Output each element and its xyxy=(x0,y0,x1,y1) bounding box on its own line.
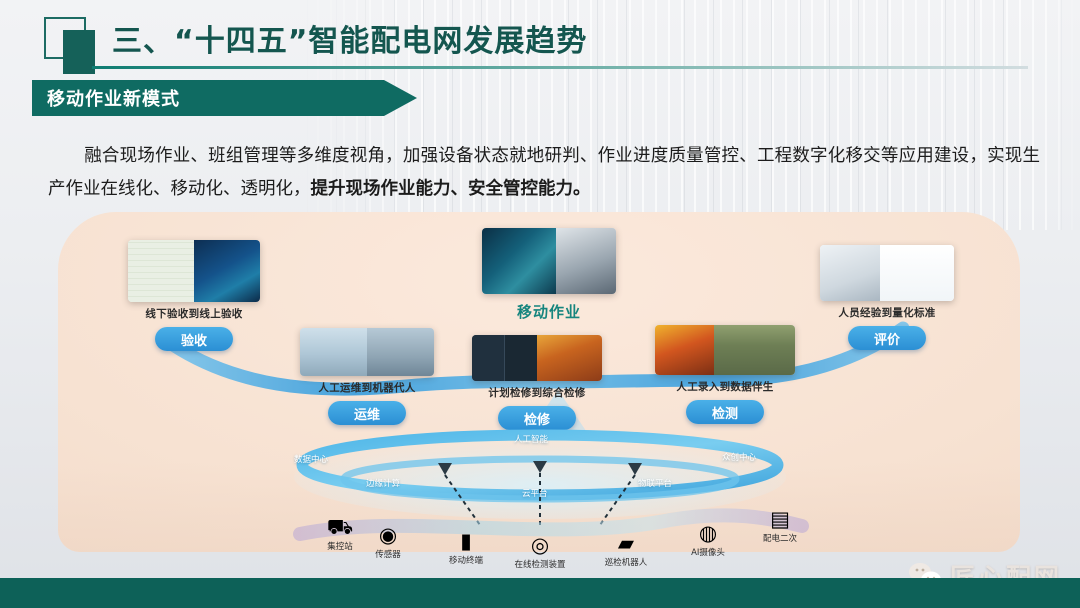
thumb-art-aerial xyxy=(194,240,260,302)
node-detection[interactable]: 人工录入到数据伴生 检测 xyxy=(655,325,795,424)
online-monitor-icon: ◎ xyxy=(500,526,580,556)
node-acceptance-caption: 线下验收到线上验收 xyxy=(128,306,260,321)
section-banner: 移动作业新模式 xyxy=(32,80,417,116)
section-banner-label: 移动作业新模式 xyxy=(32,85,180,111)
thumb-art-schematic xyxy=(128,240,194,302)
node-detection-thumbnail xyxy=(655,325,795,375)
device-secondary-equipment[interactable]: ▤ 配电二次 xyxy=(740,500,820,544)
paragraph-emphasis: 提升现场作业能力、安全管控能力。 xyxy=(311,179,591,199)
thumb-art-drone xyxy=(367,328,434,376)
device-inspection-robot[interactable]: ▰ 巡检机器人 xyxy=(586,524,666,568)
device-ai-camera-label: AI摄像头 xyxy=(668,546,748,558)
node-mobile-operation-caption: 移动作业 xyxy=(482,301,616,322)
inspection-robot-icon: ▰ xyxy=(586,524,666,554)
sensor-icon: ◉ xyxy=(348,516,428,546)
device-mobile-terminal[interactable]: ▮ 移动终端 xyxy=(426,522,506,566)
device-online-monitor-label: 在线检测装置 xyxy=(500,558,580,570)
device-inspection-robot-label: 巡检机器人 xyxy=(586,556,666,568)
node-evaluation-pill[interactable]: 评价 xyxy=(848,326,926,350)
body-paragraph: 融合现场作业、班组管理等多维度视角，加强设备状态就地研判、作业进度质量管控、工程… xyxy=(48,140,1040,206)
ring-label-ai: 人工智能 xyxy=(514,433,548,445)
node-mobile-operation[interactable]: 移动作业 xyxy=(482,228,616,322)
device-sensor[interactable]: ◉ 传感器 xyxy=(348,516,428,560)
device-mobile-terminal-label: 移动终端 xyxy=(426,554,506,566)
thumb-art-crane xyxy=(655,325,714,375)
thumb-art-substation xyxy=(300,328,367,376)
ring-label-data-center: 数据中心 xyxy=(294,453,328,465)
thumb-art-device xyxy=(820,245,880,301)
ring-label-cloud: 云平台 xyxy=(522,487,548,499)
square-solid-icon xyxy=(63,30,95,74)
page-title: 三、“十四五”智能配电网发展趋势 xyxy=(112,16,587,60)
node-mobile-operation-thumbnail xyxy=(482,228,616,294)
node-detection-caption: 人工录入到数据伴生 xyxy=(655,379,795,394)
thumb-art-worker xyxy=(537,335,602,381)
ai-camera-icon: ◍ xyxy=(668,514,748,544)
node-evaluation-thumbnail xyxy=(820,245,954,301)
ring-label-innovation: 众创中心 xyxy=(722,451,756,463)
node-operation-caption: 人工运维到机器代人 xyxy=(300,380,434,395)
thumb-art-road xyxy=(714,325,795,375)
mobile-terminal-icon: ▮ xyxy=(426,522,506,552)
footer-bar xyxy=(0,578,1080,608)
node-evaluation-caption: 人员经验到量化标准 xyxy=(820,305,954,320)
device-online-monitor[interactable]: ◎ 在线检测装置 xyxy=(500,526,580,570)
thumb-art-table xyxy=(880,245,954,301)
node-acceptance-pill[interactable]: 验收 xyxy=(155,327,233,351)
node-acceptance-thumbnail xyxy=(128,240,260,302)
node-evaluation[interactable]: 人员经验到量化标准 评价 xyxy=(820,245,954,350)
node-maintenance-caption: 计划检修到综合检修 xyxy=(472,385,602,400)
node-maintenance-thumbnail xyxy=(472,335,602,381)
ring-label-edge-computing: 边缘计算 xyxy=(366,477,400,489)
secondary-equipment-icon: ▤ xyxy=(740,500,820,530)
thumb-art-dashboard xyxy=(482,228,556,294)
thumb-art-monitor-grid xyxy=(472,335,537,381)
ring-label-iot-platform: 物联平台 xyxy=(638,477,672,489)
slide-header: 三、“十四五”智能配电网发展趋势 xyxy=(0,0,1080,76)
thumb-art-helmet-worker xyxy=(556,228,616,294)
title-divider xyxy=(92,66,1028,69)
node-acceptance[interactable]: 线下验收到线上验收 验收 xyxy=(128,240,260,351)
node-operation[interactable]: 人工运维到机器代人 运维 xyxy=(300,328,434,425)
node-operation-thumbnail xyxy=(300,328,434,376)
device-secondary-equipment-label: 配电二次 xyxy=(740,532,820,544)
device-sensor-label: 传感器 xyxy=(348,548,428,560)
device-row: ⛟ 集控站 ◉ 传感器 ▮ 移动终端 ◎ 在线检测装置 ▰ 巡检机器人 ◍ AI… xyxy=(300,500,800,570)
device-ai-camera[interactable]: ◍ AI摄像头 xyxy=(668,514,748,558)
